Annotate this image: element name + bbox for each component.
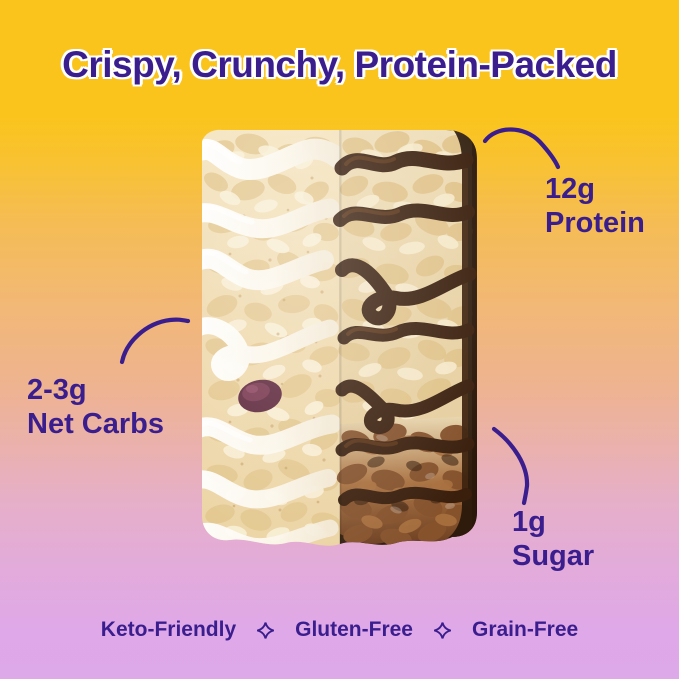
- benefit-gluten-free: Gluten-Free: [295, 618, 413, 642]
- sugar-pointer-arc: [488, 424, 548, 512]
- callout-sugar-value: 1g: [512, 505, 594, 539]
- four-point-star-glyph: [257, 622, 274, 639]
- benefit-grain-free: Grain-Free: [472, 618, 578, 642]
- callout-protein: 12g Protein: [545, 172, 645, 240]
- callout-net-carbs-label: Net Carbs: [27, 407, 164, 441]
- callout-sugar: 1g Sugar: [512, 505, 594, 573]
- product-bar-illustration: [200, 128, 479, 553]
- callout-protein-value: 12g: [545, 172, 645, 206]
- callout-sugar-label: Sugar: [512, 539, 594, 573]
- net-carbs-pointer-arc: [112, 310, 197, 372]
- four-point-star-icon: [257, 622, 274, 639]
- callout-protein-label: Protein: [545, 206, 645, 240]
- callout-net-carbs-value: 2-3g: [27, 373, 164, 407]
- benefit-keto-friendly: Keto-Friendly: [101, 618, 236, 642]
- callout-net-carbs: 2-3g Net Carbs: [27, 373, 164, 441]
- four-point-star-glyph: [434, 622, 451, 639]
- page-title: Crispy, Crunchy, Protein-Packed: [0, 44, 679, 86]
- four-point-star-icon-2: [434, 622, 451, 639]
- product-infographic: Crispy, Crunchy, Protein-Packed: [0, 0, 679, 679]
- product-bar-image: [200, 128, 479, 553]
- benefits-row: Keto-Friendly Gluten-Free Grain-Free: [0, 618, 679, 642]
